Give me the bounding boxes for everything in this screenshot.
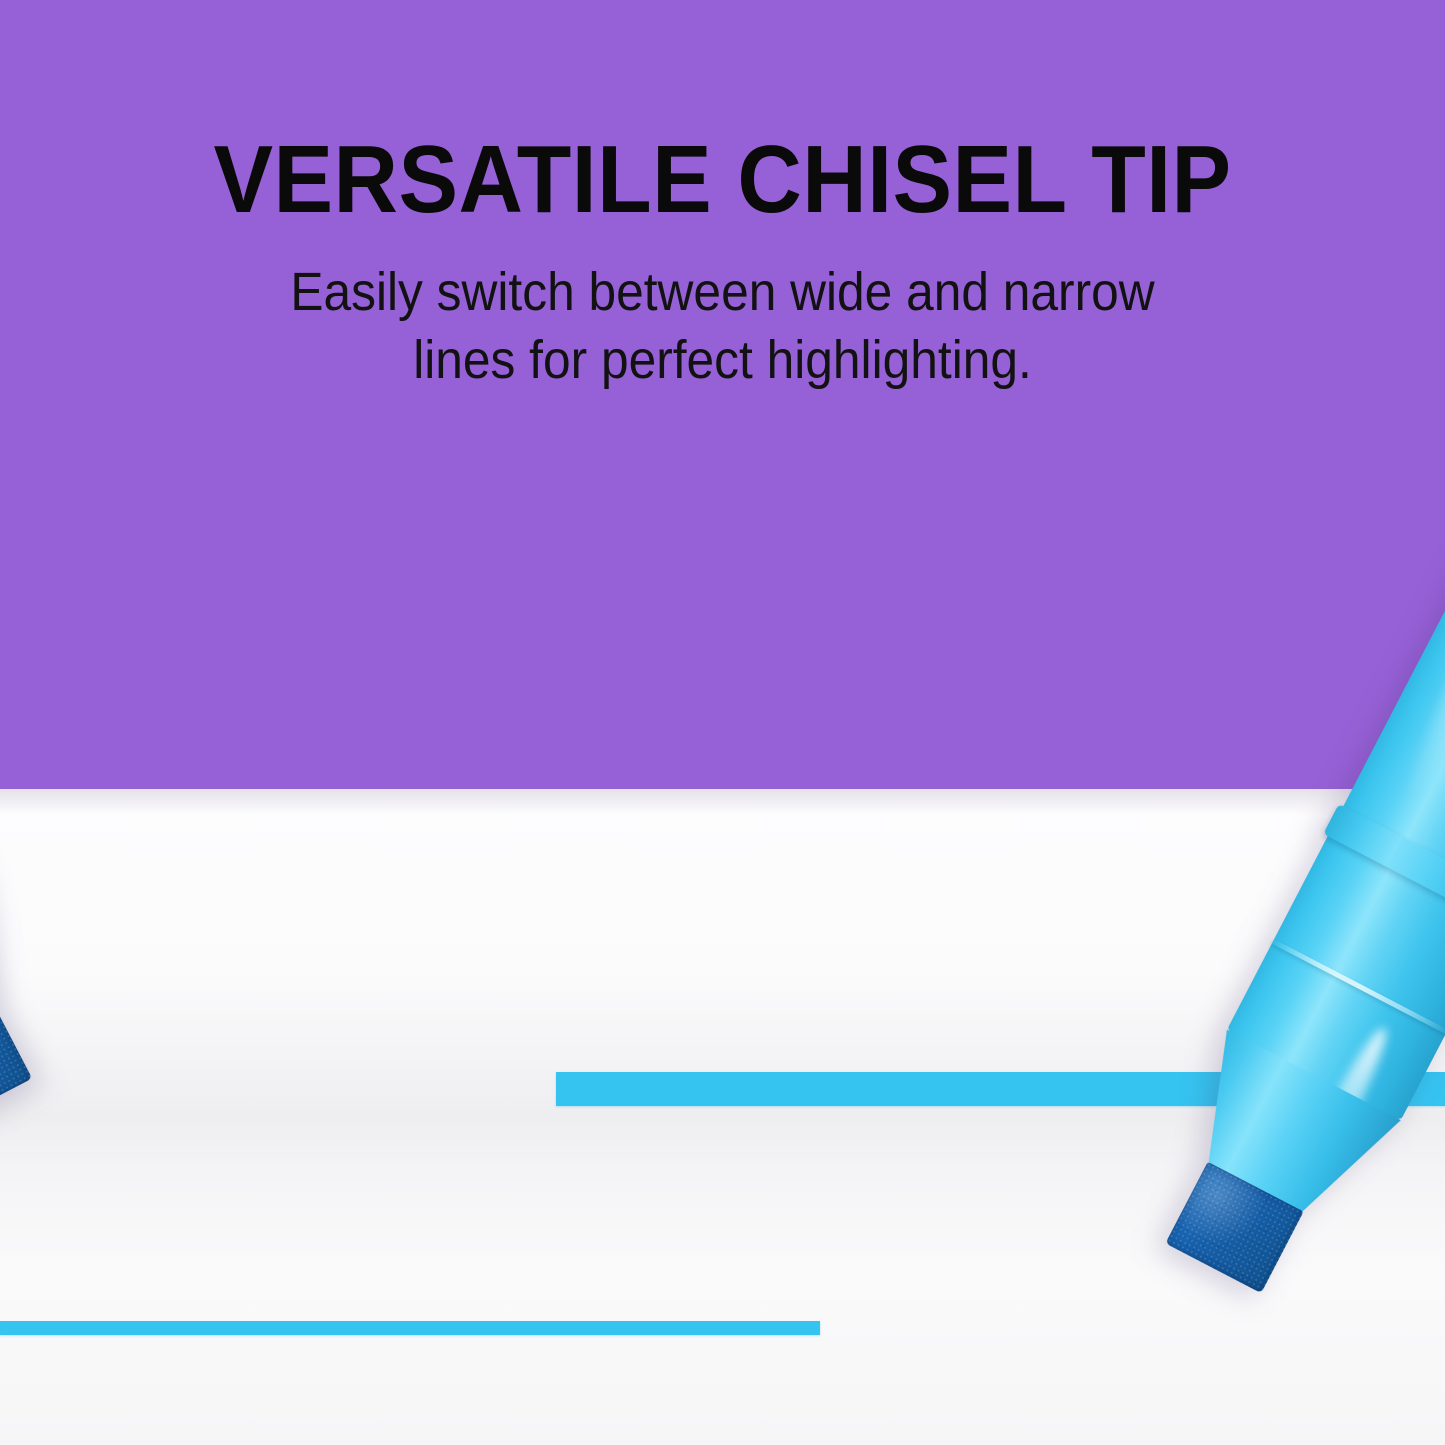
purple-banner-background [0,0,1445,789]
narrow-highlighter-stroke [0,1321,820,1335]
product-banner-canvas: VERSATILE CHISEL TIP Easily switch betwe… [0,0,1445,1445]
paper-edge-shadow [0,789,1445,815]
